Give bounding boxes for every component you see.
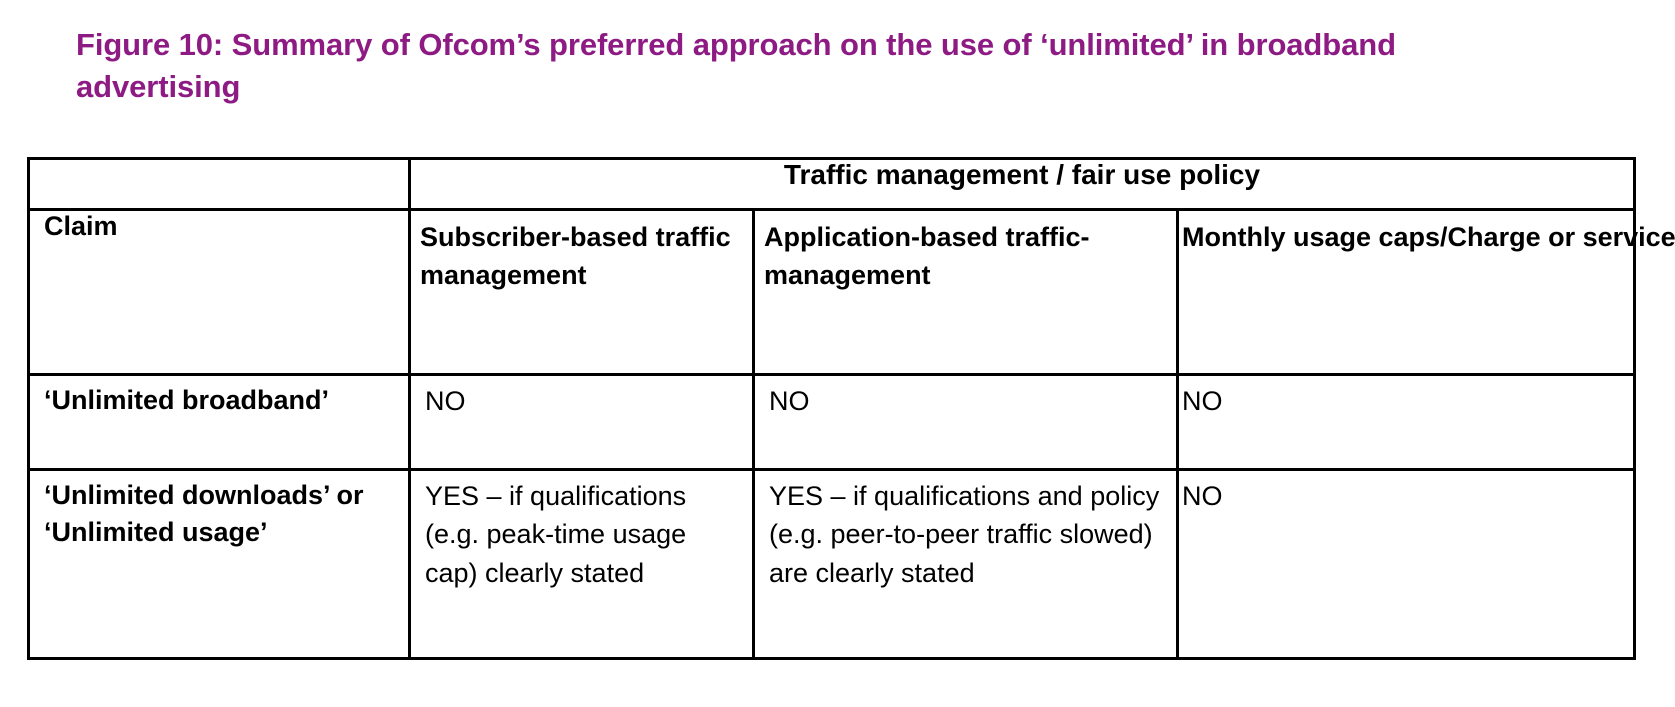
column-header-monthly-usage-caps: Monthly usage caps/Charge or service sus… (1178, 210, 1635, 375)
row-claim-unlimited-downloads-usage: ‘Unlimited downloads’ or ‘Unlimited usag… (29, 470, 410, 659)
page-title: Figure 10: Summary of Ofcom’s preferred … (76, 24, 1546, 109)
figure-page: Figure 10: Summary of Ofcom’s preferred … (0, 0, 1675, 707)
row-claim-label: ‘Unlimited downloads’ or ‘Unlimited usag… (30, 471, 408, 552)
table-row: ‘Unlimited broadband’ NO NO NO (29, 375, 1635, 470)
row-claim-unlimited-broadband: ‘Unlimited broadband’ (29, 375, 410, 470)
cell-value: YES – if qualifications (e.g. peak-time … (411, 471, 752, 592)
cell-unlimited-broadband-application-based: NO (754, 375, 1178, 470)
column-header-application-based: Application-based traffic-management (754, 210, 1178, 375)
table-column-header-row: Claim Subscriber-based traffic managemen… (29, 210, 1635, 375)
row-claim-label: ‘Unlimited broadband’ (30, 376, 408, 419)
cell-value: NO (1179, 376, 1633, 420)
group-header-cell: Traffic management / fair use policy (410, 159, 1635, 210)
cell-value: YES – if qualifications and policy (e.g.… (755, 471, 1176, 592)
column-header-label: Application-based traffic-management (755, 211, 1176, 295)
cell-unlimited-broadband-monthly-usage-caps: NO (1178, 375, 1635, 470)
column-header-subscriber-based: Subscriber-based traffic management (410, 210, 754, 375)
column-header-label: Subscriber-based traffic management (411, 211, 752, 295)
column-header-label: Monthly usage caps/Charge or service sus… (1179, 211, 1633, 257)
table-group-header-row: Traffic management / fair use policy (29, 159, 1635, 210)
claim-header-cell: Claim (29, 210, 410, 375)
summary-table: Traffic management / fair use policy Cla… (27, 157, 1636, 660)
table-row: ‘Unlimited downloads’ or ‘Unlimited usag… (29, 470, 1635, 659)
cell-unlimited-downloads-subscriber-based: YES – if qualifications (e.g. peak-time … (410, 470, 754, 659)
cell-value: NO (411, 376, 752, 420)
cell-unlimited-downloads-application-based: YES – if qualifications and policy (e.g.… (754, 470, 1178, 659)
cell-unlimited-broadband-subscriber-based: NO (410, 375, 754, 470)
cell-unlimited-downloads-monthly-usage-caps: NO (1178, 470, 1635, 659)
cell-value: NO (1179, 471, 1633, 515)
group-header-label: Traffic management / fair use policy (411, 160, 1633, 191)
cell-value: NO (755, 376, 1176, 420)
figure-table-wrapper: Traffic management / fair use policy Cla… (27, 157, 1633, 660)
claim-header-label: Claim (30, 211, 408, 242)
table-corner-spacer (29, 159, 410, 210)
